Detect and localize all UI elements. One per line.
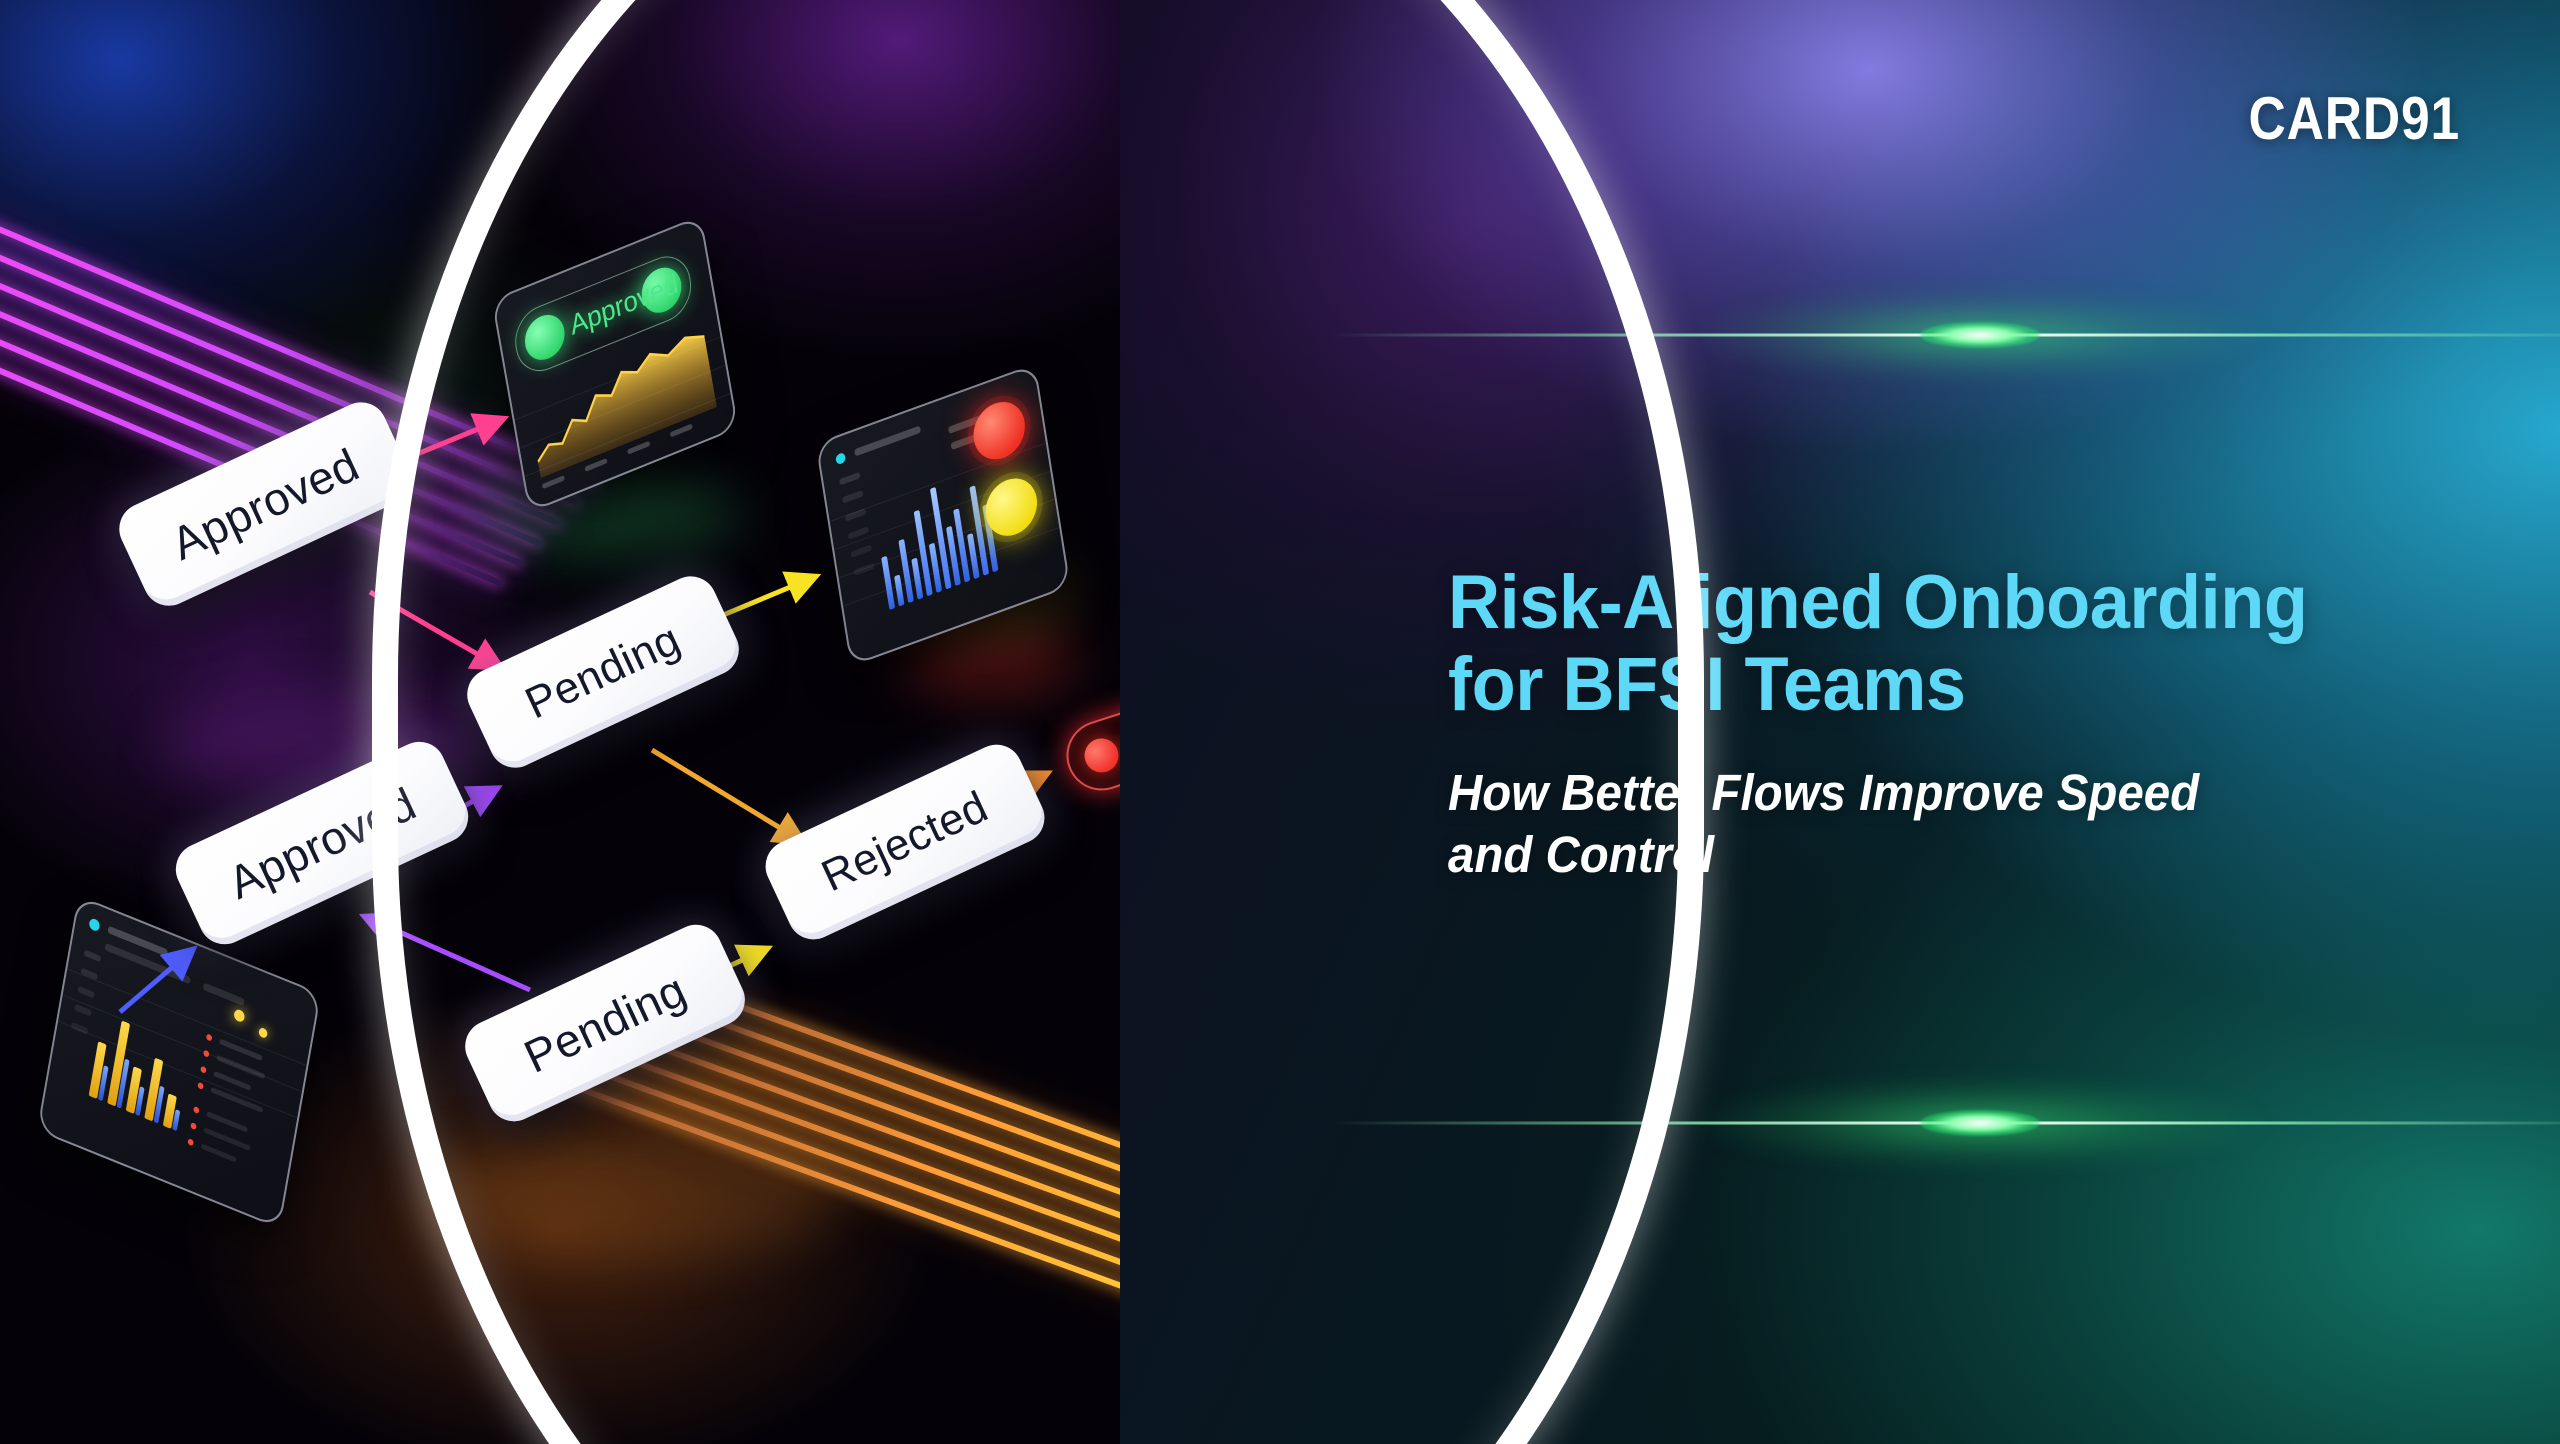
arrow-dash-to-approved2 — [120, 952, 190, 1012]
headline-line-1: Risk-Aligned Onboarding — [1448, 562, 2436, 644]
brand-logo: CARD91 — [2248, 84, 2460, 153]
subhead-line-2: and Control — [1448, 824, 2415, 886]
subhead-line-1: How Better Flows Improve Speed — [1448, 762, 2415, 824]
arrow-pending-to-rejected — [652, 750, 800, 840]
page-title: Risk-Aligned Onboarding for BFSI Teams — [1448, 562, 2436, 726]
illustration-panel: Approved — [0, 0, 1120, 1444]
rejected-dot-icon — [1080, 734, 1120, 777]
page-subtitle: How Better Flows Improve Speed and Contr… — [1448, 762, 2415, 886]
headline-line-2: for BFSI Teams — [1448, 644, 2436, 726]
poster-canvas: CARD91 Risk-Aligned Onboarding for BFSI … — [0, 0, 2560, 1444]
arrow-pendingb-to-approved2 — [368, 918, 530, 990]
arrow-approved-to-pending — [370, 592, 498, 666]
copy-block: Risk-Aligned Onboarding for BFSI Teams H… — [1448, 562, 2488, 887]
